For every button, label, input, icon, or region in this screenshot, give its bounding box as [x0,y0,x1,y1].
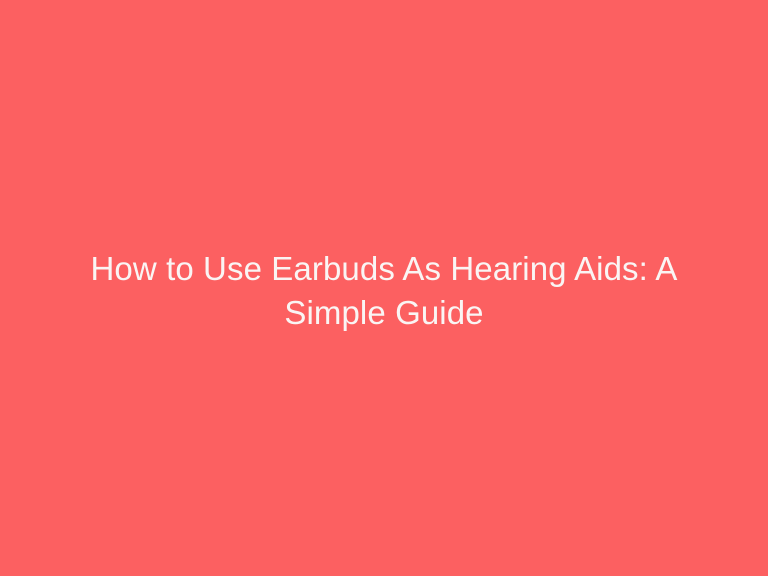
page-title: How to Use Earbuds As Hearing Aids: A Si… [50,247,718,335]
featured-image-card: How to Use Earbuds As Hearing Aids: A Si… [0,0,768,576]
title-block: How to Use Earbuds As Hearing Aids: A Si… [34,247,734,335]
